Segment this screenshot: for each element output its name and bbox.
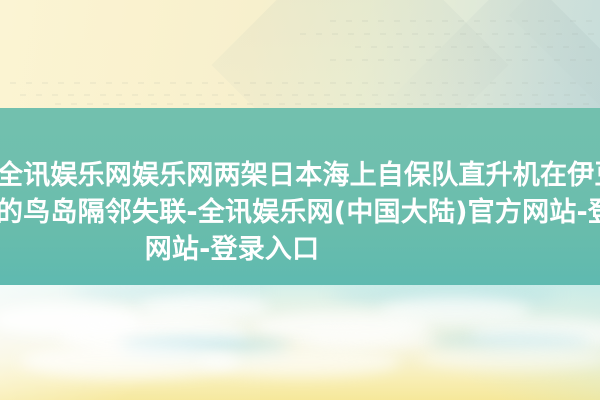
page-title-line-2: 的鸟岛隔邻失联-全讯娱乐网(中国大陆)官方网站-登录 (0, 194, 600, 231)
top-band-texture-line (20, 94, 595, 96)
cloud-shape (200, 347, 400, 377)
top-band-texture-line (300, 33, 595, 35)
cloud-sky-background (0, 285, 600, 400)
top-band-texture-line (330, 59, 595, 61)
cloud-shape (420, 345, 600, 371)
top-band-texture-line (10, 82, 595, 84)
top-band-texture-line (55, 103, 595, 105)
page-title: 全讯娱乐网娱乐网两架日本海上自保队直升机在伊豆 的鸟岛隔邻失联-全讯娱乐网(中国… (0, 108, 600, 285)
top-band-texture-line (355, 46, 595, 48)
screenshot-canvas: 全讯娱乐网娱乐网两架日本海上自保队直升机在伊豆 的鸟岛隔邻失联-全讯娱乐网(中国… (0, 0, 600, 400)
top-band-texture-line (330, 20, 595, 22)
page-title-line-1: 全讯娱乐网娱乐网两架日本海上自保队直升机在伊豆 (0, 157, 600, 194)
top-band-highlight-shape (0, 40, 210, 108)
top-decorative-band (0, 0, 600, 108)
page-title-line-3: 网站-登录入口 (0, 231, 600, 268)
